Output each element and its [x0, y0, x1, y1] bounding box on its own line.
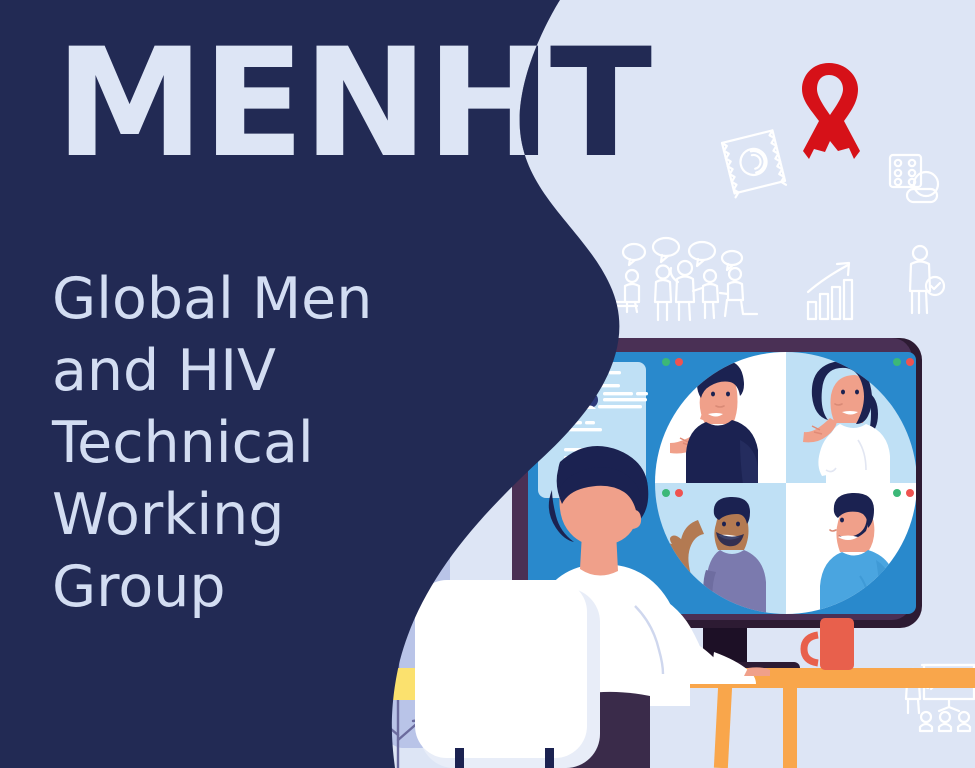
poster-canvas: MENHT MENHT Global Menand HIVTechnicalWo…: [0, 0, 975, 768]
office-chair: [415, 580, 600, 768]
poster-illustration: MENHT MENHT Global Menand HIVTechnicalWo…: [0, 0, 975, 768]
video-grid: [655, 352, 916, 614]
poster-title-group: MENHT MENHT: [55, 17, 652, 191]
